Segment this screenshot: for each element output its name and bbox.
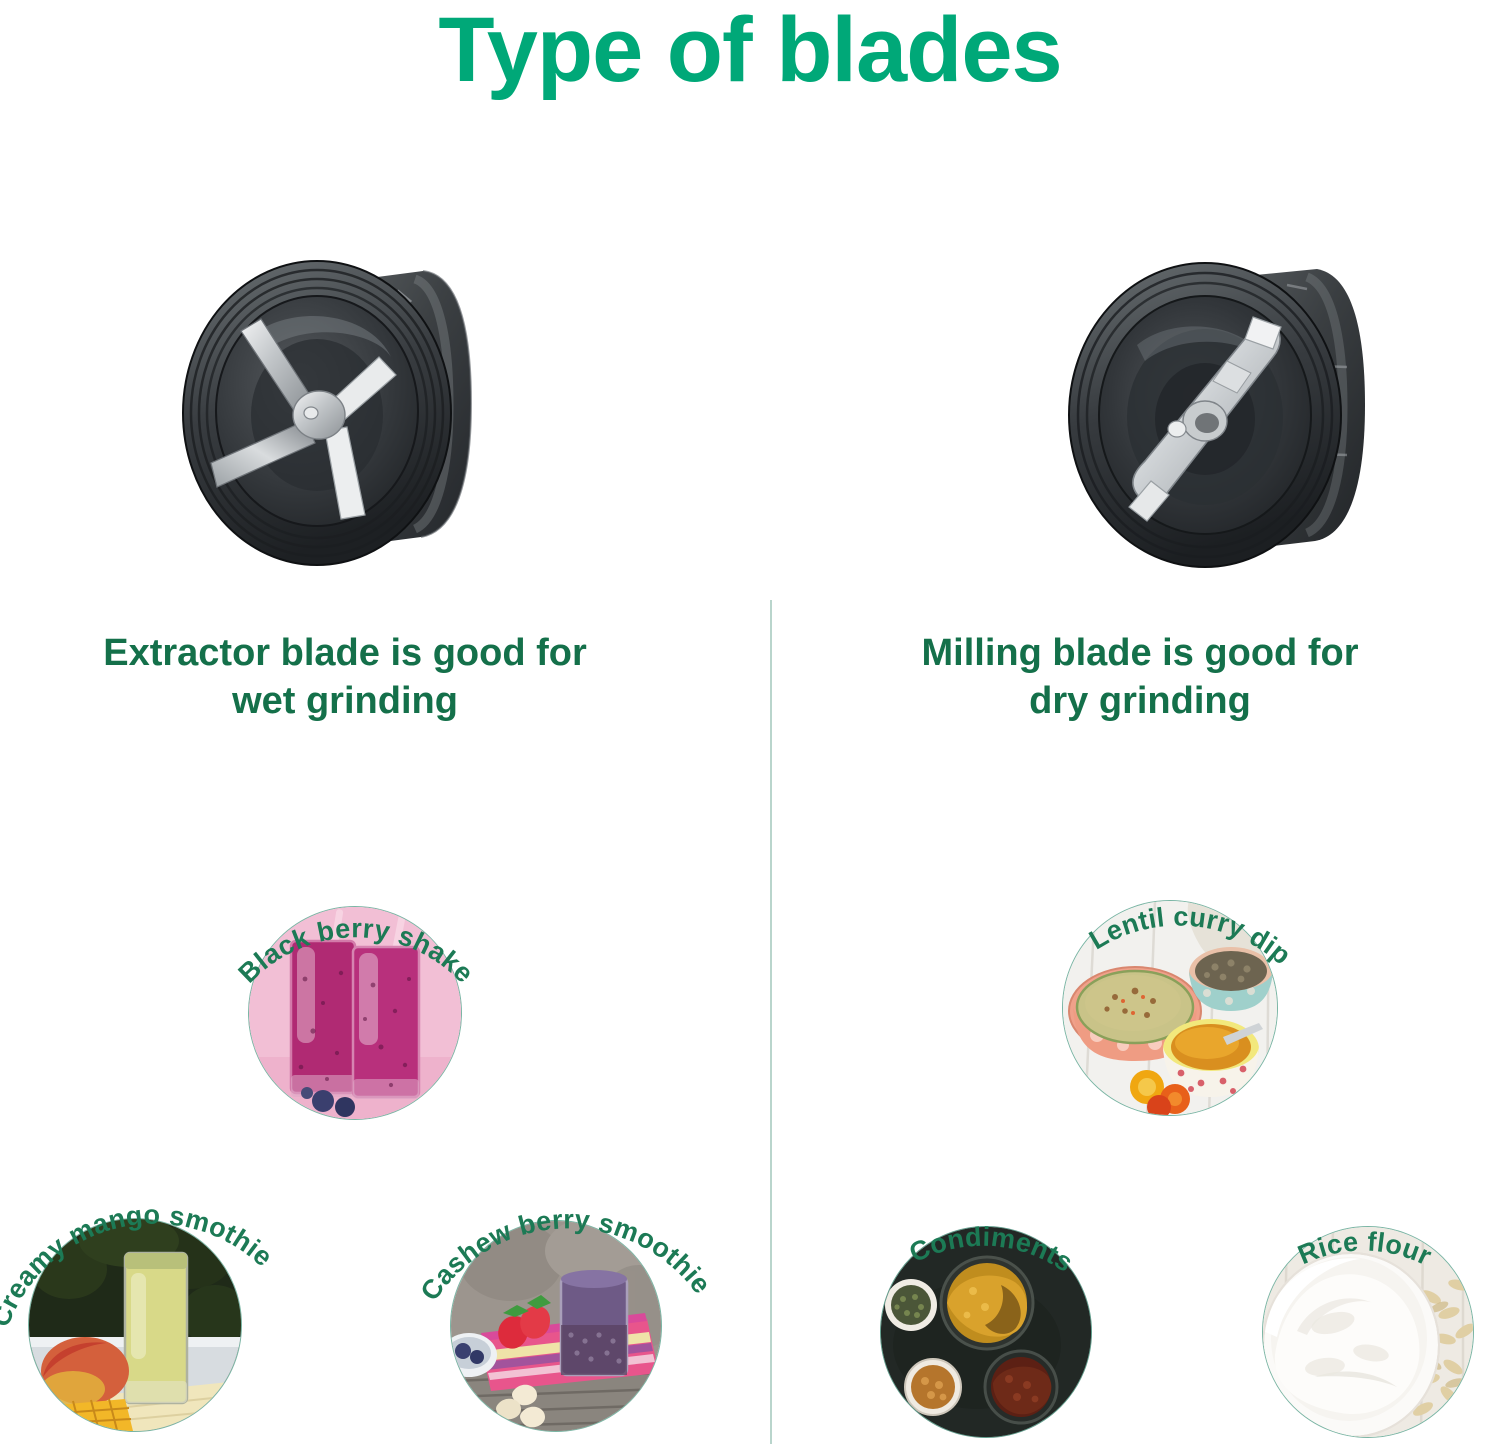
recipe-tile-lentil-curry-dip: Lentil curry dip: [1026, 838, 1346, 1128]
black-berry-shake-label: Black berry shake: [196, 848, 516, 1128]
lentil-curry-dip-label: Lentil curry dip: [1026, 838, 1346, 1128]
recipe-tile-black-berry-shake: Black berry shake: [196, 848, 516, 1128]
cashew-berry-smoothie-label: Cashew berry smoothie: [396, 1148, 736, 1444]
creamy-mango-smothie-label: Creamy mango smothie: [0, 1148, 332, 1444]
extractor-caption-line1: Extractor blade is good for: [0, 630, 690, 678]
milling-blade-photo: [1055, 245, 1385, 585]
svg-text:Cashew berry smoothie: Cashew berry smoothie: [415, 1204, 717, 1306]
label-text: Black berry shake: [233, 913, 480, 988]
milling-caption-line2: dry grinding: [810, 678, 1470, 726]
svg-text:Lentil curry dip: Lentil curry dip: [1084, 901, 1297, 970]
label-text: Lentil curry dip: [1084, 901, 1297, 970]
svg-text:Condiments: Condiments: [905, 1222, 1079, 1278]
milling-blade-caption: Milling blade is good for dry grinding: [810, 630, 1470, 726]
extractor-blade-photo: [165, 245, 495, 585]
extractor-caption-line2: wet grinding: [0, 678, 690, 726]
column-divider: [770, 600, 772, 1444]
svg-text:Rice flour: Rice flour: [1294, 1227, 1437, 1272]
recipe-tile-condiments: Condiments: [836, 1148, 1156, 1444]
label-text: Condiments: [905, 1222, 1079, 1278]
rice-flour-label: Rice flour: [1226, 1148, 1500, 1444]
page-title: Type of blades: [0, 2, 1500, 99]
svg-text:Creamy mango smothie: Creamy mango smothie: [0, 1200, 279, 1331]
recipe-tile-cashew-berry-smoothie: Cashew berry smoothie: [396, 1148, 736, 1444]
label-text: Rice flour: [1294, 1227, 1437, 1272]
milling-caption-line1: Milling blade is good for: [810, 630, 1470, 678]
label-text: Cashew berry smoothie: [415, 1204, 717, 1306]
recipe-tile-rice-flour: Rice flour: [1226, 1148, 1500, 1444]
label-text: Creamy mango smothie: [0, 1200, 279, 1331]
recipe-tile-creamy-mango-smothie: Creamy mango smothie: [0, 1148, 332, 1444]
svg-text:Black berry shake: Black berry shake: [233, 913, 480, 988]
condiments-label: Condiments: [836, 1148, 1156, 1444]
extractor-blade-caption: Extractor blade is good for wet grinding: [0, 630, 690, 726]
